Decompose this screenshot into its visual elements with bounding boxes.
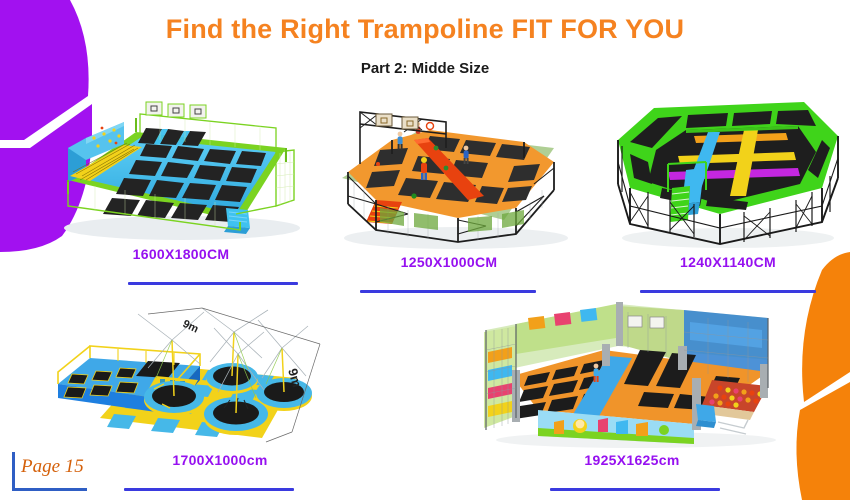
trampoline-park-green-multicolor-image — [608, 92, 848, 250]
product-card-2[interactable]: 1250X1000CM — [318, 92, 580, 288]
trampoline-park-orange-black-image — [318, 92, 580, 250]
product-underline-5 — [550, 488, 720, 491]
product-caption-5: 1925X1625cm — [468, 452, 796, 468]
page-number-block: Page 15 — [12, 452, 96, 492]
product-underline-1 — [128, 282, 298, 285]
product-caption-4: 1700X1000cm — [52, 452, 388, 468]
product-card-4[interactable]: 9m 9m 1700X1000cm — [52, 292, 388, 478]
product-caption-3: 1240X1140CM — [608, 254, 848, 270]
page-subtitle: Part 2: Midde Size — [0, 60, 850, 77]
trampoline-park-blue-bungee-round-image: 9m 9m — [52, 292, 388, 448]
product-caption-1: 1600X1800CM — [50, 246, 312, 262]
trampoline-park-orange-indoor-ballpit-image — [468, 292, 796, 448]
product-card-5[interactable]: 1925X1625cm — [468, 292, 796, 478]
product-caption-2: 1250X1000CM — [318, 254, 580, 270]
product-underline-4 — [124, 488, 294, 491]
product-card-3[interactable]: 1240X1140CM — [608, 92, 848, 288]
slide-canvas: Find the Right Trampoline FIT FOR YOU Pa… — [0, 0, 850, 500]
page-number-label: Page 15 — [21, 456, 84, 478]
trampoline-park-blue-green-image — [50, 88, 312, 244]
page-title: Find the Right Trampoline FIT FOR YOU — [0, 14, 850, 45]
dimension-label: 9m — [181, 318, 201, 336]
product-card-1[interactable]: 1600X1800CM — [50, 88, 312, 288]
